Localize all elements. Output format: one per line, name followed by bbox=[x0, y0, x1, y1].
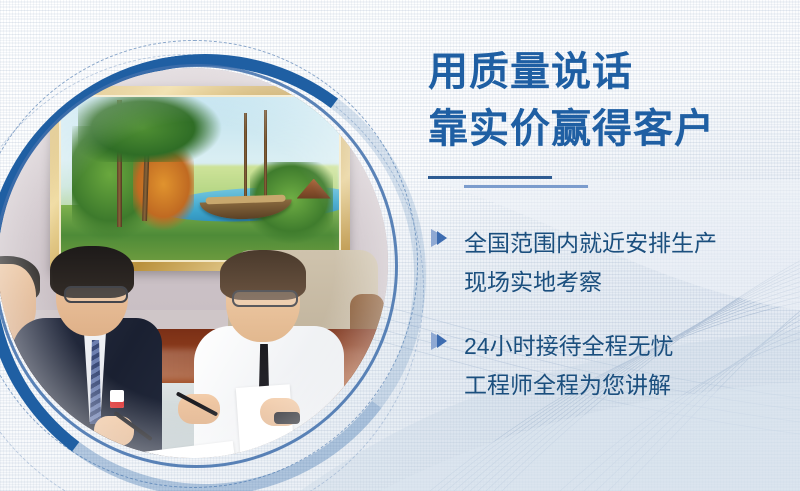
feature-item-2: 24小时接待全程无忧 工程师全程为您讲解 bbox=[428, 327, 788, 406]
play-arrow-icon bbox=[428, 330, 450, 360]
headline-line-1: 用质量说话 bbox=[428, 44, 788, 101]
feature-2-line-2: 工程师全程为您讲解 bbox=[464, 366, 674, 406]
photo-ring-inner bbox=[0, 64, 398, 468]
content-column: 用质量说话 靠实价赢得客户 全国范围内就近安排生产 现场实地考察 bbox=[428, 44, 788, 430]
feature-1-line-2: 现场实地考察 bbox=[464, 263, 717, 303]
feature-2-line-1: 24小时接待全程无忧 bbox=[464, 327, 674, 367]
divider-line-top bbox=[428, 176, 552, 179]
divider-line-bottom bbox=[464, 185, 588, 188]
feature-1-line-1: 全国范围内就近安排生产 bbox=[464, 224, 717, 264]
headline-line-2: 靠实价赢得客户 bbox=[428, 101, 788, 158]
headline: 用质量说话 靠实价赢得客户 bbox=[428, 44, 788, 158]
feature-item-1: 全国范围内就近安排生产 现场实地考察 bbox=[428, 224, 788, 303]
hero-photo bbox=[0, 68, 388, 458]
play-arrow-icon bbox=[428, 227, 450, 257]
divider bbox=[428, 176, 788, 198]
promo-banner: 用质量说话 靠实价赢得客户 全国范围内就近安排生产 现场实地考察 bbox=[0, 0, 800, 491]
